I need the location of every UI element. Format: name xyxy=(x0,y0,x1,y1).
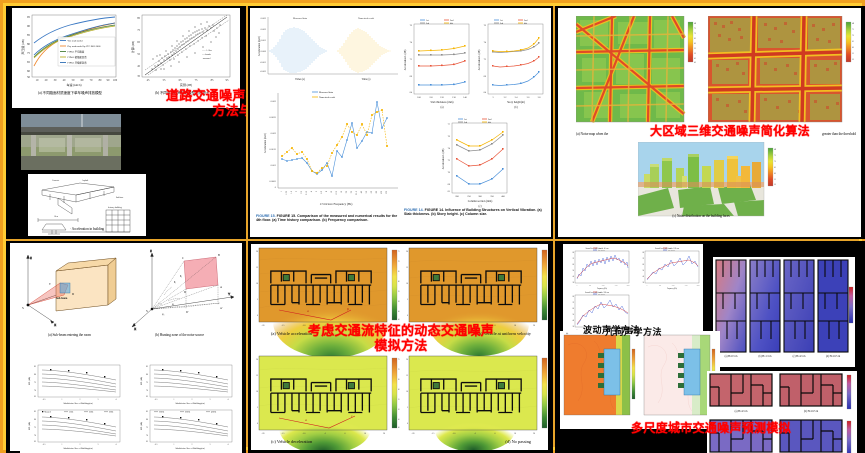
p1-overlay-title: 道路交通噪声振动协同测量实验 方法与数据分析 xyxy=(134,90,246,119)
panel-multi-scale-urban-traffic-noise-prediction[interactable]: Sound level (dB) inside 45 cm 807060 504… xyxy=(555,241,865,453)
p4-hunting-zone-diagram: Z Y X C B D A xyxy=(128,247,236,333)
svg-text:0.002: 0.002 xyxy=(271,132,277,135)
p3-noise-map-a: dB7570 656055 504540 xyxy=(576,16,698,128)
svg-text:65: 65 xyxy=(27,60,31,64)
svg-text:90: 90 xyxy=(27,24,31,28)
svg-text:2: 2 xyxy=(192,444,193,446)
svg-text:20: 20 xyxy=(533,325,535,327)
svg-text:65: 65 xyxy=(34,441,36,443)
svg-text:20: 20 xyxy=(406,359,408,361)
svg-text:θ₂: θ₂ xyxy=(180,275,182,278)
svg-text:10: 10 xyxy=(406,391,408,393)
svg-text:74: 74 xyxy=(410,41,413,44)
svg-text:α: α xyxy=(305,418,307,422)
svg-text:75: 75 xyxy=(694,28,696,30)
svg-text:50: 50 xyxy=(27,75,31,79)
svg-text:Acceleration L (dB): Acceleration L (dB) xyxy=(478,49,481,70)
svg-text:10: 10 xyxy=(36,79,39,82)
svg-text:Frequency (Hz): Frequency (Hz) xyxy=(597,287,608,290)
svg-text:S: S xyxy=(146,309,148,313)
svg-text:65: 65 xyxy=(34,396,36,398)
panel-indoor-outdoor-noise-propagation[interactable]: Z X Y xyxy=(6,241,246,453)
p1-fig-a-caption: (a) 不同路面材质速度下单车噪声排放模型 xyxy=(18,91,122,95)
svg-text:76: 76 xyxy=(484,24,487,27)
svg-text:30: 30 xyxy=(573,326,575,328)
svg-text:0: 0 xyxy=(407,423,408,425)
svg-text:70: 70 xyxy=(146,390,148,392)
svg-text:- - - bounds: - - - bounds xyxy=(202,54,211,56)
svg-text:70: 70 xyxy=(643,258,645,260)
svg-text:8: 8 xyxy=(326,190,328,192)
svg-text:1st: 1st xyxy=(464,119,467,121)
svg-text:85: 85 xyxy=(146,366,148,368)
svg-text:2: 2 xyxy=(80,399,81,401)
svg-text:350: 350 xyxy=(490,196,494,198)
svg-text:60: 60 xyxy=(27,69,31,73)
svg-text:1000Hz: 1000Hz xyxy=(159,411,164,413)
svg-text:15: 15 xyxy=(406,375,408,377)
p4-diag-b-caption: (b) Hunting zone of the noise source xyxy=(155,333,204,337)
svg-text:Measured data: Measured data xyxy=(293,17,308,20)
svg-text:45: 45 xyxy=(398,419,400,421)
svg-text:2nd: 2nd xyxy=(450,20,454,22)
svg-text:95: 95 xyxy=(226,79,229,82)
svg-text:3: 3 xyxy=(98,399,99,401)
svg-text:40: 40 xyxy=(361,190,363,193)
svg-text:5: 5 xyxy=(407,299,408,301)
svg-text:S: S xyxy=(22,306,24,310)
svg-text:50: 50 xyxy=(573,270,575,272)
svg-text:30: 30 xyxy=(643,282,645,284)
svg-text:60: 60 xyxy=(573,308,575,310)
svg-text:74: 74 xyxy=(484,41,487,44)
svg-text:Story height(m): Story height(m) xyxy=(507,101,525,104)
svg-text:dB: dB xyxy=(852,23,855,25)
svg-text:55: 55 xyxy=(398,291,400,293)
svg-text:-5: -5 xyxy=(474,433,476,435)
svg-text:50: 50 xyxy=(366,190,368,193)
svg-text:10: 10 xyxy=(364,433,366,435)
svg-text:60: 60 xyxy=(398,389,400,391)
p6-spectrum-sheet: Sound level (dB) inside 45 cm 807060 504… xyxy=(563,244,703,334)
svg-text:40: 40 xyxy=(398,319,400,321)
svg-text:75: 75 xyxy=(146,382,148,384)
svg-text:50: 50 xyxy=(398,409,400,411)
svg-text:85: 85 xyxy=(34,411,36,413)
svg-text:31.5: 31.5 xyxy=(356,190,358,195)
svg-text:72: 72 xyxy=(410,58,413,61)
svg-text:dB: dB xyxy=(774,149,777,151)
svg-text:64: 64 xyxy=(484,91,487,94)
svg-text:72: 72 xyxy=(484,58,487,61)
svg-text:50: 50 xyxy=(694,53,696,55)
svg-text:50: 50 xyxy=(643,270,645,272)
svg-text:75: 75 xyxy=(852,29,854,31)
svg-text:16: 16 xyxy=(341,190,343,193)
svg-text:Column section (mm): Column section (mm) xyxy=(468,200,493,203)
svg-text:SPL (dB): SPL (dB) xyxy=(140,377,143,386)
svg-text:A: A xyxy=(220,286,222,289)
p2-fig15-caption: FIGURE 15. FIGURE 15. Comparison of the … xyxy=(256,214,398,223)
p1-fig-a: 95 90 85 80 75 65 60 50 102030 405060 70… xyxy=(18,11,122,93)
svg-text:10: 10 xyxy=(256,391,258,393)
svg-text:68: 68 xyxy=(448,183,451,186)
svg-text:50: 50 xyxy=(852,59,854,61)
svg-text:250: 250 xyxy=(467,196,471,198)
svg-text:40: 40 xyxy=(63,79,66,82)
svg-text:(a): (a) xyxy=(566,332,569,335)
p5-d-caption: (d) No passing xyxy=(505,439,531,444)
svg-text:70: 70 xyxy=(573,258,575,260)
svg-text:85: 85 xyxy=(137,17,140,20)
svg-text:车速 (km/h): 车速 (km/h) xyxy=(67,82,82,87)
svg-text:0.003: 0.003 xyxy=(271,100,277,103)
svg-text:60: 60 xyxy=(694,43,696,45)
svg-text:(a) H=0.5 m: (a) H=0.5 m xyxy=(725,355,738,358)
svg-text:30: 30 xyxy=(54,79,57,82)
svg-text:5: 5 xyxy=(257,299,258,301)
svg-text:3.15: 3.15 xyxy=(306,190,308,195)
p4-subdivision-charts: 8580 7570 65 SPL (dB) xyxy=(20,361,242,453)
svg-text:B: B xyxy=(218,254,220,257)
svg-text:1st: 1st xyxy=(500,20,503,22)
svg-text:45: 45 xyxy=(137,65,140,68)
svg-text:90: 90 xyxy=(107,79,110,82)
svg-text:20: 20 xyxy=(406,251,408,253)
svg-text:40: 40 xyxy=(573,320,575,322)
svg-text:-0.5: -0.5 xyxy=(43,399,46,401)
svg-text:85: 85 xyxy=(34,366,36,368)
svg-text:0: 0 xyxy=(345,433,346,435)
p3-map-c-caption: (c) Noise distribution on the building f… xyxy=(638,214,764,218)
svg-text:50: 50 xyxy=(398,301,400,303)
svg-text:50: 50 xyxy=(774,184,776,186)
panel-large-area-3d-traffic-noise-algorithm[interactable]: dB7570 656055 504540 xyxy=(555,6,865,239)
svg-text:70: 70 xyxy=(694,33,696,35)
svg-text:10: 10 xyxy=(406,283,408,285)
svg-text:70: 70 xyxy=(448,171,451,174)
p1-sketch-sheet: Concrete Asphalt Sub-base 4-storey build… xyxy=(28,174,146,236)
svg-text:Acceleration L (dB): Acceleration L (dB) xyxy=(404,49,407,70)
p3-3d-city-view: dB7570 65605550 (c) Noise distribution o… xyxy=(638,142,784,222)
svg-text:100: 100 xyxy=(417,97,421,99)
svg-text:15: 15 xyxy=(256,375,258,377)
p2-fig15-caption-text: FIGURE 15. Comparison of the measured an… xyxy=(256,214,397,222)
svg-text:2.5: 2.5 xyxy=(301,190,303,194)
svg-text:2: 2 xyxy=(192,399,193,401)
svg-text:-0.5: -0.5 xyxy=(155,399,158,401)
svg-text:15: 15 xyxy=(256,267,258,269)
svg-text:-5: -5 xyxy=(324,433,326,435)
svg-text:55: 55 xyxy=(163,79,166,82)
svg-text:-10: -10 xyxy=(453,433,456,435)
svg-text:SPL (dB): SPL (dB) xyxy=(28,377,31,386)
svg-text:70: 70 xyxy=(573,302,575,304)
svg-text:60: 60 xyxy=(398,281,400,283)
svg-text:40: 40 xyxy=(643,276,645,278)
svg-text:1.25: 1.25 xyxy=(286,190,288,195)
road-noise-speed-chart: 95 90 85 80 75 65 60 50 102030 405060 70… xyxy=(18,11,122,93)
svg-text:65: 65 xyxy=(694,38,696,40)
svg-text:Acceleration L (dB): Acceleration L (dB) xyxy=(442,148,445,169)
svg-text:68: 68 xyxy=(484,75,487,78)
svg-text:2nd: 2nd xyxy=(524,20,528,22)
svg-text:140: 140 xyxy=(463,97,467,99)
svg-text:1: 1 xyxy=(174,399,175,401)
p3-overlay-title: 大区域三维交通噪声简化算法 xyxy=(615,125,845,138)
svg-text:0: 0 xyxy=(257,315,258,317)
svg-text:-20: -20 xyxy=(262,433,265,435)
p4-sub-beam-diagram: Z X Y xyxy=(16,247,120,333)
p2-sheet: 0.003 0.002 0.001 0.000 -0.001 -0.003 Ac… xyxy=(250,8,551,237)
svg-text:80: 80 xyxy=(573,252,575,254)
svg-text:10: 10 xyxy=(256,283,258,285)
svg-text:1.6: 1.6 xyxy=(291,190,293,194)
svg-text:4: 4 xyxy=(228,444,229,446)
svg-text:77: 77 xyxy=(448,123,451,126)
svg-text:0.001: 0.001 xyxy=(261,39,267,42)
svg-text:500: 500 xyxy=(589,285,591,287)
svg-text:0.0015: 0.0015 xyxy=(269,148,276,151)
svg-text:4: 4 xyxy=(116,399,117,401)
svg-text:dB: dB xyxy=(694,23,697,25)
svg-text:-20: -20 xyxy=(412,433,415,435)
svg-text:65: 65 xyxy=(146,396,148,398)
p3-sheet: dB7570 656055 504540 xyxy=(558,8,861,237)
svg-text:76: 76 xyxy=(410,24,413,27)
svg-text:80: 80 xyxy=(643,252,645,254)
svg-text:-10: -10 xyxy=(303,433,306,435)
svg-text:Subdivision Size of Buildings(: Subdivision Size of Buildings(m) xyxy=(63,447,93,450)
svg-text:64: 64 xyxy=(410,91,413,94)
svg-text:-0.5: -0.5 xyxy=(43,444,46,446)
svg-text:65: 65 xyxy=(398,271,400,273)
svg-text:4000Hz: 4000Hz xyxy=(211,411,216,413)
svg-text:1: 1 xyxy=(62,399,63,401)
svg-text:β: β xyxy=(347,307,349,311)
svg-text:Measured: Measured xyxy=(45,411,51,413)
svg-text:0.0025: 0.0025 xyxy=(269,116,276,119)
svg-text:Slab thickness (mm): Slab thickness (mm) xyxy=(431,101,454,104)
svg-text:75: 75 xyxy=(398,251,400,253)
svg-text:Numerical result: Numerical result xyxy=(319,96,335,99)
svg-text:Times (s): Times (s) xyxy=(295,78,305,81)
svg-text:20: 20 xyxy=(45,79,48,82)
svg-text:75: 75 xyxy=(34,382,36,384)
svg-text:0: 0 xyxy=(495,433,496,435)
svg-text:3.8: 3.8 xyxy=(538,97,542,99)
svg-text:125: 125 xyxy=(386,190,388,194)
svg-text:0.001: 0.001 xyxy=(271,164,277,167)
svg-text:80: 80 xyxy=(34,374,36,376)
svg-text:2000: 2000 xyxy=(697,285,700,287)
svg-text:1: 1 xyxy=(62,444,63,446)
svg-text:80: 80 xyxy=(376,190,378,193)
svg-text:200: 200 xyxy=(455,196,459,198)
svg-text:3: 3 xyxy=(98,444,99,446)
svg-text:10: 10 xyxy=(514,433,516,435)
p4-diag-a-caption: (a) Sub-beam entering the room xyxy=(48,333,91,337)
svg-text:-20: -20 xyxy=(262,325,265,327)
svg-text:50: 50 xyxy=(72,79,75,82)
svg-text:250Hz: 250Hz xyxy=(89,411,94,413)
p2-fig14c: 7776 7472 7068 65 Acceleration L (dB) 20… xyxy=(440,113,510,209)
svg-text:(b): (b) xyxy=(514,106,517,109)
p4-diagram-captions: (a) Sub-beam entering the room (b) Hunti… xyxy=(16,333,236,337)
svg-text:1000: 1000 xyxy=(602,285,605,287)
svg-text:65: 65 xyxy=(137,41,140,44)
p2-time-history: 0.003 0.002 0.001 0.000 -0.001 -0.003 Ac… xyxy=(254,12,400,84)
svg-text:FHWA 平均路面: FHWA 平均路面 xyxy=(68,50,85,54)
svg-text:Wet road model: Wet road model xyxy=(68,40,84,43)
svg-text:1000: 1000 xyxy=(672,285,675,287)
svg-text:SPL (dB): SPL (dB) xyxy=(140,422,143,431)
panel-road-traffic-noise-vibration-measurement[interactable]: 95 90 85 80 75 65 60 50 102030 405060 70… xyxy=(6,6,246,239)
svg-text:35: 35 xyxy=(137,75,140,78)
svg-text:55: 55 xyxy=(774,179,776,181)
svg-text:10 m: 10 m xyxy=(54,216,59,218)
svg-text:12.5: 12.5 xyxy=(336,190,338,195)
svg-text:60: 60 xyxy=(852,47,854,49)
panel-building-vibration-simulation[interactable]: 0.003 0.002 0.001 0.000 -0.001 -0.003 Ac… xyxy=(248,6,553,239)
svg-text:-0.003: -0.003 xyxy=(260,70,267,73)
svg-text:1st: 1st xyxy=(426,20,429,22)
svg-text:1500: 1500 xyxy=(615,285,618,287)
svg-text:75: 75 xyxy=(146,427,148,429)
svg-text:FHWA 开级配沥青: FHWA 开级配沥青 xyxy=(68,61,88,65)
p2-fig14-caption: FIGURE 14. FIGURE 14. Influence of Build… xyxy=(404,208,548,217)
svg-text:75: 75 xyxy=(27,51,31,55)
p1-photo-sheet xyxy=(21,114,121,170)
viaduct-photo xyxy=(21,114,121,170)
svg-text:74: 74 xyxy=(448,147,451,150)
svg-text:3: 3 xyxy=(210,399,211,401)
panel-dynamic-traffic-noise-simulation[interactable]: α β -20-15-10 -501020 201510 50 757065 6… xyxy=(248,241,553,453)
svg-text:20: 20 xyxy=(346,190,348,193)
p6-geometric-acoustics-label: 几何声学方法 xyxy=(605,325,662,338)
svg-text:300: 300 xyxy=(478,196,482,198)
p2-fig14-caption-text: FIGURE 14. Influence of Building Structu… xyxy=(404,208,542,216)
svg-text:5: 5 xyxy=(316,190,318,192)
svg-text:75: 75 xyxy=(195,79,198,82)
svg-text:3: 3 xyxy=(210,444,211,446)
svg-text:D': D' xyxy=(186,311,189,314)
poster-grid: 95 90 85 80 75 65 60 50 102030 405060 70… xyxy=(6,6,859,447)
svg-text:实测 (dB): 实测 (dB) xyxy=(180,82,192,87)
svg-text:(b) H=1.5 m: (b) H=1.5 m xyxy=(759,355,772,358)
svg-text:0.0005: 0.0005 xyxy=(269,180,276,183)
svg-text:A': A' xyxy=(220,307,223,310)
svg-text:70: 70 xyxy=(146,435,148,437)
svg-text:65: 65 xyxy=(146,441,148,443)
svg-text:72: 72 xyxy=(448,159,451,162)
svg-text:85: 85 xyxy=(146,411,148,413)
svg-text:Concrete: Concrete xyxy=(52,180,59,182)
svg-text:30: 30 xyxy=(573,282,575,284)
svg-text:20: 20 xyxy=(533,433,535,435)
svg-text:2: 2 xyxy=(80,444,81,446)
svg-text:D: D xyxy=(184,291,186,294)
svg-text:40: 40 xyxy=(398,427,400,429)
svg-text:85: 85 xyxy=(211,79,214,82)
svg-text:95: 95 xyxy=(27,15,31,19)
svg-text:6.3: 6.3 xyxy=(321,190,323,194)
svg-text:60: 60 xyxy=(643,264,645,266)
svg-text:63: 63 xyxy=(371,190,373,193)
svg-text:0.003: 0.003 xyxy=(261,17,267,20)
p6-floorplan-bottom-sheet: (a) H=4.5 m(b) H=10.5 m (c) H=22.5 m(d) … xyxy=(707,371,857,453)
svg-text:2000: 2000 xyxy=(627,285,630,287)
svg-text:0: 0 xyxy=(275,186,277,189)
poster-root: 95 90 85 80 75 65 60 50 102030 405060 70… xyxy=(0,0,865,453)
svg-text:80: 80 xyxy=(573,296,575,298)
svg-text:20: 20 xyxy=(256,359,258,361)
svg-text:65: 65 xyxy=(852,41,854,43)
p3-noise-map-b: dB7570 656055 50 xyxy=(708,16,856,128)
svg-text:70: 70 xyxy=(398,369,400,371)
svg-text:(d) H=10.5 m: (d) H=10.5 m xyxy=(826,355,840,358)
svg-text:(a): (a) xyxy=(440,106,443,109)
svg-text:50: 50 xyxy=(573,314,575,316)
svg-text:4: 4 xyxy=(228,399,229,401)
svg-text:3.2: 3.2 xyxy=(504,97,508,99)
svg-text:70: 70 xyxy=(34,390,36,392)
svg-text:80: 80 xyxy=(146,374,148,376)
svg-text:55: 55 xyxy=(137,53,140,56)
svg-text:65: 65 xyxy=(774,167,776,169)
svg-text:α: α xyxy=(307,309,309,313)
svg-text:45: 45 xyxy=(147,79,150,82)
svg-text:40: 40 xyxy=(573,276,575,278)
svg-text:-15: -15 xyxy=(432,433,435,435)
svg-text:85: 85 xyxy=(27,33,31,37)
svg-text:Z: Z xyxy=(150,249,152,253)
svg-text:0: 0 xyxy=(257,423,258,425)
svg-text:20: 20 xyxy=(383,433,385,435)
p2-fig14a: 7674 7268 64 Acceleration L (dB) 1001101… xyxy=(402,14,472,110)
svg-text:Dry road model by JTG B03-2006: Dry road model by JTG B03-2006 xyxy=(68,45,102,48)
svg-text:-0.5: -0.5 xyxy=(155,444,158,446)
svg-text:15: 15 xyxy=(406,267,408,269)
svg-text:75: 75 xyxy=(137,29,140,32)
svg-text:76: 76 xyxy=(448,135,451,138)
svg-text:55: 55 xyxy=(398,399,400,401)
svg-text:Z: Z xyxy=(30,256,32,260)
svg-text:-15: -15 xyxy=(282,433,285,435)
svg-text:Acceleration (m/s²): Acceleration (m/s²) xyxy=(258,36,261,56)
svg-text:5: 5 xyxy=(407,407,408,409)
svg-text:130: 130 xyxy=(452,97,456,99)
svg-text:400: 400 xyxy=(501,196,505,198)
svg-text:55: 55 xyxy=(852,53,854,55)
svg-text:2nd: 2nd xyxy=(488,119,492,121)
svg-text:60: 60 xyxy=(774,173,776,175)
svg-text:80: 80 xyxy=(27,42,31,46)
model-measured-scatter-chart: 85 75 65 55 45 35 455565 758595 实测 (dB) … xyxy=(128,11,236,93)
svg-text:60: 60 xyxy=(81,79,84,82)
p5-caption-row-2: (c) Vehicle deceleration (d) No passing xyxy=(271,439,531,444)
svg-text:68: 68 xyxy=(410,75,413,78)
svg-text:55: 55 xyxy=(694,48,696,50)
p2-frequency-comparison: 0.003 0.0025 0.002 0.0015 0.001 0.0005 0… xyxy=(256,88,401,208)
svg-text:5: 5 xyxy=(257,407,258,409)
svg-text:100: 100 xyxy=(381,190,383,194)
svg-text:Sub-beam: Sub-beam xyxy=(56,297,68,300)
svg-text:Measured data: Measured data xyxy=(319,91,334,94)
svg-text:X: X xyxy=(134,327,137,331)
svg-text:Sub-base: Sub-base xyxy=(116,197,123,199)
svg-text:10: 10 xyxy=(331,190,333,193)
